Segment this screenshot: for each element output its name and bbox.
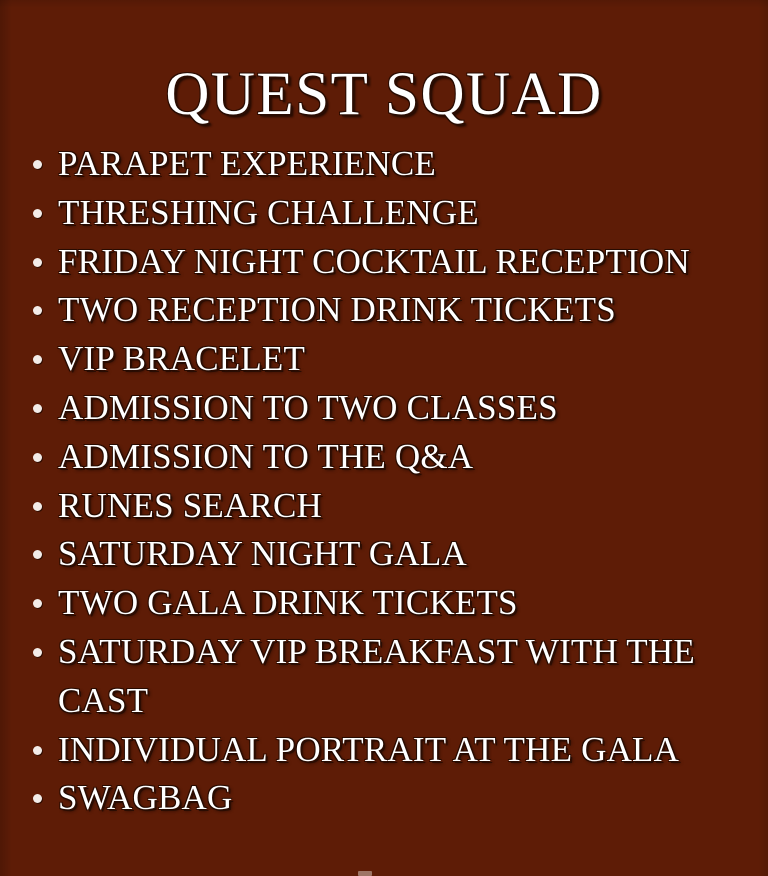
bullet-icon [33,746,42,755]
list-item-label: SATURDAY NIGHT GALA [58,530,744,579]
list-item: ADMISSION TO THE Q&A [28,433,744,482]
page-title: QUEST SQUAD [0,63,768,127]
list-item: THRESHING CHALLENGE [28,189,744,238]
list-item-label: SATURDAY VIP BREAKFAST WITH THE CAST [58,628,744,726]
list-item-label: ADMISSION TO TWO CLASSES [58,384,744,433]
bullet-icon [33,160,42,169]
list-item: TWO GALA DRINK TICKETS [28,579,744,628]
list-item-label: FRIDAY NIGHT COCKTAIL RECEPTION [58,238,744,287]
bullet-icon [33,794,42,803]
bullet-icon [33,355,42,364]
list-item-label: SWAGBAG [58,774,744,823]
list-item-label: RUNES SEARCH [58,482,744,531]
list-item: ADMISSION TO TWO CLASSES [28,384,744,433]
list-item: SATURDAY VIP BREAKFAST WITH THE CAST [28,628,744,726]
list-item-label: THRESHING CHALLENGE [58,189,744,238]
bullet-icon [33,306,42,315]
list-item: FRIDAY NIGHT COCKTAIL RECEPTION [28,238,744,287]
benefits-list: PARAPET EXPERIENCE THRESHING CHALLENGE F… [28,140,744,823]
bullet-icon [33,209,42,218]
list-item: SATURDAY NIGHT GALA [28,530,744,579]
list-item: TWO RECEPTION DRINK TICKETS [28,286,744,335]
list-item: VIP BRACELET [28,335,744,384]
list-item-label: TWO RECEPTION DRINK TICKETS [58,286,744,335]
list-item-label: INDIVIDUAL PORTRAIT AT THE GALA [58,726,744,775]
bullet-icon [33,404,42,413]
bullet-icon [33,550,42,559]
list-item-label: TWO GALA DRINK TICKETS [58,579,744,628]
poster-card: QUEST SQUAD PARAPET EXPERIENCE THRESHING… [0,0,768,876]
list-item-label: ADMISSION TO THE Q&A [58,433,744,482]
list-item-label: PARAPET EXPERIENCE [58,140,744,189]
list-item: RUNES SEARCH [28,482,744,531]
list-item: PARAPET EXPERIENCE [28,140,744,189]
cropped-bottom-fragment [358,871,372,876]
bullet-icon [33,648,42,657]
bullet-icon [33,599,42,608]
bullet-icon [33,502,42,511]
list-item: SWAGBAG [28,774,744,823]
bullet-icon [33,258,42,267]
bullet-icon [33,453,42,462]
list-item: INDIVIDUAL PORTRAIT AT THE GALA [28,726,744,775]
list-item-label: VIP BRACELET [58,335,744,384]
